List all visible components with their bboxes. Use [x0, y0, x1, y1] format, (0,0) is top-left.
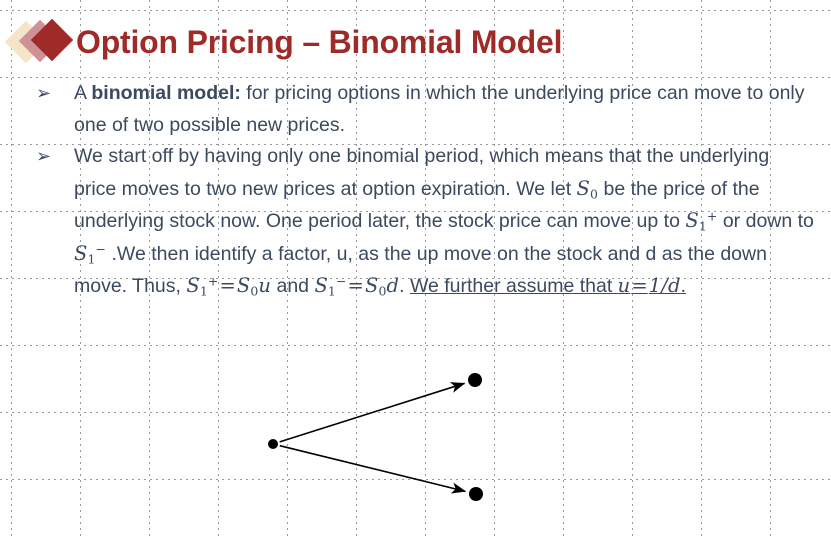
root-node-dot [268, 439, 278, 449]
bullet-1-bold-term: binomial model: [91, 82, 241, 104]
math-superscript: + [208, 274, 219, 289]
tree-edge [280, 446, 466, 492]
bullet-2-text: We start off by having only one binomial… [74, 141, 816, 303]
bullet-2-segment-5: and [271, 275, 314, 297]
math-equals: = [347, 274, 365, 297]
math-symbol-s: S [685, 209, 698, 232]
equation-up-move: S1+=S0u [186, 274, 271, 297]
math-symbol-u: u [258, 274, 271, 297]
up-node-dot [468, 373, 482, 387]
math-subscript: 1 [328, 283, 336, 298]
math-subscript: 1 [699, 218, 707, 233]
math-subscript: 0 [590, 186, 598, 201]
slide-title-row: Option Pricing – Binomial Model [8, 14, 562, 70]
equation-u-equals-one-over-d: u=1/d [618, 274, 681, 297]
math-subscript: 1 [87, 251, 95, 266]
bullet-1-lead: A [74, 82, 91, 104]
math-equals: = [218, 274, 236, 297]
math-s1-minus-inline: S1− [74, 242, 106, 265]
slide-canvas: Option Pricing – Binomial Model ➢ A bino… [0, 0, 831, 536]
math-symbol-d: d [387, 274, 400, 297]
math-symbol-u: u [618, 274, 631, 297]
equation-down-move: S1−=S0d [314, 274, 399, 297]
math-symbol-s: S [577, 177, 590, 200]
math-symbol-s: S [365, 274, 378, 297]
bullet-1-text: A binomial model: for pricing options in… [74, 78, 816, 141]
binomial-tree-svg [0, 345, 831, 536]
math-symbol-s: S [237, 274, 250, 297]
math-subscript: 1 [200, 283, 208, 298]
math-subscript: 0 [378, 283, 386, 298]
list-item: ➢ We start off by having only one binomi… [36, 141, 816, 303]
bullet-2-underlined-clause: We further assume that u=1/d. [410, 275, 686, 297]
bullet-arrow-icon: ➢ [36, 78, 74, 110]
math-symbol-s: S [74, 242, 87, 265]
bullet-2-segment-6: . [399, 275, 410, 297]
math-symbol-s: S [186, 274, 199, 297]
math-superscript: − [336, 274, 347, 289]
math-superscript: + [707, 209, 718, 224]
three-diamonds-logo [8, 16, 74, 68]
list-item: ➢ A binomial model: for pricing options … [36, 78, 816, 141]
underlined-text-end: . [681, 275, 686, 297]
page-title: Option Pricing – Binomial Model [76, 26, 562, 58]
down-node-dot [469, 487, 483, 501]
underlined-text-start: We further assume that [410, 275, 618, 297]
bullet-arrow-icon: ➢ [36, 141, 74, 173]
tree-edge [280, 383, 465, 442]
binomial-tree-diagram: S0 S1+=S0u S1−=S0d [0, 345, 831, 536]
math-value-one-over-d: 1/d [649, 274, 681, 297]
math-symbol-s: S [314, 274, 327, 297]
slide-body: ➢ A binomial model: for pricing options … [36, 78, 816, 303]
math-s0-inline: S0 [577, 177, 599, 200]
math-superscript: − [96, 241, 107, 256]
math-equals: = [630, 274, 648, 297]
bullet-2-segment-3: or down to [717, 210, 813, 232]
math-s1-plus-inline: S1+ [685, 209, 717, 232]
